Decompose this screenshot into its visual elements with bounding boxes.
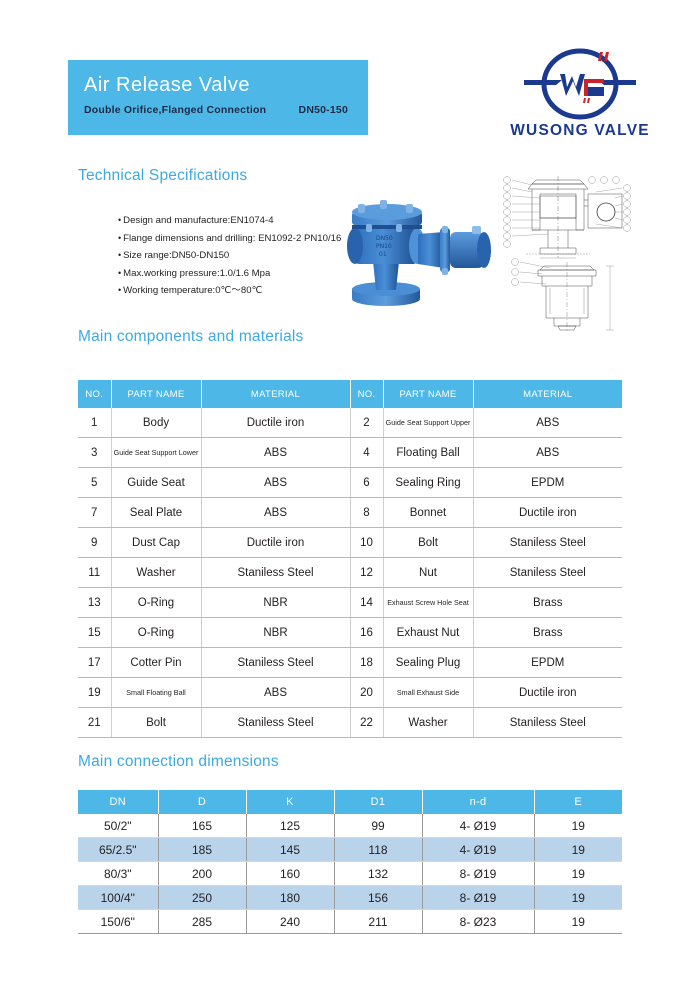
cell-no: 22 — [350, 708, 383, 738]
column-header-dn: DN — [78, 790, 158, 814]
cell-part-name: Guide Seat — [111, 468, 201, 498]
table-row: 11WasherStaniless Steel12NutStaniless St… — [78, 558, 622, 588]
cell-material: NBR — [201, 618, 350, 648]
datasheet-page: Air Release Valve Double Orifice,Flanged… — [0, 0, 700, 1001]
valve-product-photo: DN50 PN10 01 — [322, 182, 498, 310]
heading-connection-dimensions: Main connection dimensions — [78, 753, 279, 771]
product-subtitle: Double Orifice,Flanged Connection — [84, 104, 266, 116]
cell-part-name: Bolt — [111, 708, 201, 738]
cell-material: Brass — [473, 588, 622, 618]
cell-d1: 99 — [334, 814, 422, 838]
cell-no: 20 — [350, 678, 383, 708]
cell-material: ABS — [473, 408, 622, 438]
table-row: 17Cotter PinStaniless Steel18Sealing Plu… — [78, 648, 622, 678]
cell-part-name: Cotter Pin — [111, 648, 201, 678]
cell-nd: 8- Ø23 — [422, 910, 534, 934]
cell-material: ABS — [201, 468, 350, 498]
cell-material: Ductile iron — [201, 408, 350, 438]
column-header-no-left: NO. — [78, 380, 111, 408]
table-row: 13O-RingNBR14Exhaust Screw Hole SeatBras… — [78, 588, 622, 618]
cell-material: Staniless Steel — [473, 558, 622, 588]
cell-no: 15 — [78, 618, 111, 648]
cell-part-name: Sealing Plug — [383, 648, 473, 678]
table-row: 3Guide Seat Support LowerABS4Floating Ba… — [78, 438, 622, 468]
cell-part-name: Body — [111, 408, 201, 438]
cell-part-name: Bolt — [383, 528, 473, 558]
column-header-material-left: MATERIAL — [201, 380, 350, 408]
cell-part-name: Bonnet — [383, 498, 473, 528]
product-title-banner: Air Release Valve Double Orifice,Flanged… — [68, 60, 368, 135]
cell-material: Ductile iron — [473, 498, 622, 528]
cell-no: 11 — [78, 558, 111, 588]
cell-part-name: Washer — [111, 558, 201, 588]
cell-no: 7 — [78, 498, 111, 528]
cell-nd: 4- Ø19 — [422, 838, 534, 862]
product-size-code: DN50-150 — [299, 104, 348, 116]
cell-material: Staniless Steel — [201, 648, 350, 678]
company-logo: WUSONG VALVE — [480, 48, 680, 156]
cell-part-name: Seal Plate — [111, 498, 201, 528]
table-row: 1BodyDuctile iron2Guide Seat Support Upp… — [78, 408, 622, 438]
cell-nd: 8- Ø19 — [422, 862, 534, 886]
cell-k: 145 — [246, 838, 334, 862]
table-row: 100/4"2501801568- Ø1919 — [78, 886, 622, 910]
cell-part-name: O-Ring — [111, 588, 201, 618]
cell-k: 125 — [246, 814, 334, 838]
column-header-part-right: PART NAME — [383, 380, 473, 408]
components-table-body: 1BodyDuctile iron2Guide Seat Support Upp… — [78, 408, 622, 738]
svg-text:PN10: PN10 — [376, 243, 392, 250]
cell-dn: 65/2.5" — [78, 838, 158, 862]
cell-dn: 80/3" — [78, 862, 158, 886]
cell-d: 285 — [158, 910, 246, 934]
cell-material: ABS — [201, 498, 350, 528]
cell-part-name: Exhaust Screw Hole Seat — [383, 588, 473, 618]
brand-name: WUSONG VALVE — [480, 122, 680, 140]
svg-text:01: 01 — [379, 251, 387, 258]
table-row: 150/6"2852402118- Ø2319 — [78, 910, 622, 934]
cell-part-name: O-Ring — [111, 618, 201, 648]
page-title: Air Release Valve — [84, 72, 352, 98]
cell-material: ABS — [473, 438, 622, 468]
cell-d: 165 — [158, 814, 246, 838]
cell-e: 19 — [534, 814, 622, 838]
cell-material: EPDM — [473, 648, 622, 678]
cell-k: 160 — [246, 862, 334, 886]
cell-no: 19 — [78, 678, 111, 708]
column-header-k: K — [246, 790, 334, 814]
column-header-material-right: MATERIAL — [473, 380, 622, 408]
column-header-no-right: NO. — [350, 380, 383, 408]
cell-d1: 118 — [334, 838, 422, 862]
column-header-d: D — [158, 790, 246, 814]
cell-d1: 132 — [334, 862, 422, 886]
cell-d1: 211 — [334, 910, 422, 934]
cell-e: 19 — [534, 862, 622, 886]
cell-no: 12 — [350, 558, 383, 588]
cell-part-name: Small Floating Ball — [111, 678, 201, 708]
cell-material: Ductile iron — [473, 678, 622, 708]
cell-no: 21 — [78, 708, 111, 738]
cell-no: 3 — [78, 438, 111, 468]
cell-k: 240 — [246, 910, 334, 934]
column-header-d1: D1 — [334, 790, 422, 814]
cell-no: 6 — [350, 468, 383, 498]
cell-no: 18 — [350, 648, 383, 678]
cell-material: ABS — [201, 438, 350, 468]
cell-material: NBR — [201, 588, 350, 618]
table-row: 15O-RingNBR16Exhaust NutBrass — [78, 618, 622, 648]
table-header-row: DN D K D1 n-d E — [78, 790, 622, 814]
cell-part-name: Small Exhaust Side — [383, 678, 473, 708]
cell-no: 2 — [350, 408, 383, 438]
cell-no: 4 — [350, 438, 383, 468]
cell-no: 5 — [78, 468, 111, 498]
cell-d: 250 — [158, 886, 246, 910]
product-subtitle-row: Double Orifice,Flanged Connection DN50-1… — [84, 104, 352, 116]
cell-material: EPDM — [473, 468, 622, 498]
wusong-logo-icon — [522, 48, 638, 120]
cell-dn: 100/4" — [78, 886, 158, 910]
table-row: 9Dust CapDuctile iron10BoltStaniless Ste… — [78, 528, 622, 558]
cell-material: Staniless Steel — [201, 558, 350, 588]
cell-no: 10 — [350, 528, 383, 558]
cell-no: 1 — [78, 408, 111, 438]
table-header-row: NO. PART NAME MATERIAL NO. PART NAME MAT… — [78, 380, 622, 408]
table-row: 19Small Floating BallABS20Small Exhaust … — [78, 678, 622, 708]
heading-main-components: Main components and materials — [78, 328, 304, 346]
cell-part-name: Nut — [383, 558, 473, 588]
table-row: 80/3"2001601328- Ø1919 — [78, 862, 622, 886]
cell-no: 17 — [78, 648, 111, 678]
cell-dn: 150/6" — [78, 910, 158, 934]
dimensions-table-body: 50/2"165125994- Ø191965/2.5"1851451184- … — [78, 814, 622, 934]
column-header-nd: n-d — [422, 790, 534, 814]
cell-d: 200 — [158, 862, 246, 886]
components-materials-table: NO. PART NAME MATERIAL NO. PART NAME MAT… — [78, 380, 622, 738]
cell-no: 16 — [350, 618, 383, 648]
cell-nd: 8- Ø19 — [422, 886, 534, 910]
valve-cross-section-drawing — [496, 172, 636, 260]
cell-material: Staniless Steel — [201, 708, 350, 738]
cell-material: ABS — [201, 678, 350, 708]
cell-no: 9 — [78, 528, 111, 558]
cell-k: 180 — [246, 886, 334, 910]
cell-part-name: Dust Cap — [111, 528, 201, 558]
valve-elevation-drawing — [498, 256, 634, 332]
cell-no: 13 — [78, 588, 111, 618]
cell-part-name: Washer — [383, 708, 473, 738]
table-row: 5Guide SeatABS6Sealing RingEPDM — [78, 468, 622, 498]
connection-dimensions-table: DN D K D1 n-d E 50/2"165125994- Ø191965/… — [78, 790, 622, 934]
table-row: 50/2"165125994- Ø1919 — [78, 814, 622, 838]
cell-material: Staniless Steel — [473, 528, 622, 558]
cell-part-name: Guide Seat Support Lower — [111, 438, 201, 468]
cell-material: Brass — [473, 618, 622, 648]
svg-text:DN50: DN50 — [376, 235, 393, 242]
column-header-part-left: PART NAME — [111, 380, 201, 408]
cell-material: Ductile iron — [201, 528, 350, 558]
cell-nd: 4- Ø19 — [422, 814, 534, 838]
cell-e: 19 — [534, 910, 622, 934]
cell-e: 19 — [534, 886, 622, 910]
cell-no: 14 — [350, 588, 383, 618]
cell-d: 185 — [158, 838, 246, 862]
heading-technical-specifications: Technical Specifications — [78, 167, 247, 185]
cell-material: Staniless Steel — [473, 708, 622, 738]
cell-part-name: Exhaust Nut — [383, 618, 473, 648]
cell-part-name: Floating Ball — [383, 438, 473, 468]
table-row: 7Seal PlateABS8BonnetDuctile iron — [78, 498, 622, 528]
cell-part-name: Guide Seat Support Upper — [383, 408, 473, 438]
cell-d1: 156 — [334, 886, 422, 910]
cell-dn: 50/2" — [78, 814, 158, 838]
cell-part-name: Sealing Ring — [383, 468, 473, 498]
table-row: 21BoltStaniless Steel22WasherStaniless S… — [78, 708, 622, 738]
cell-no: 8 — [350, 498, 383, 528]
cell-e: 19 — [534, 838, 622, 862]
table-row: 65/2.5"1851451184- Ø1919 — [78, 838, 622, 862]
column-header-e: E — [534, 790, 622, 814]
